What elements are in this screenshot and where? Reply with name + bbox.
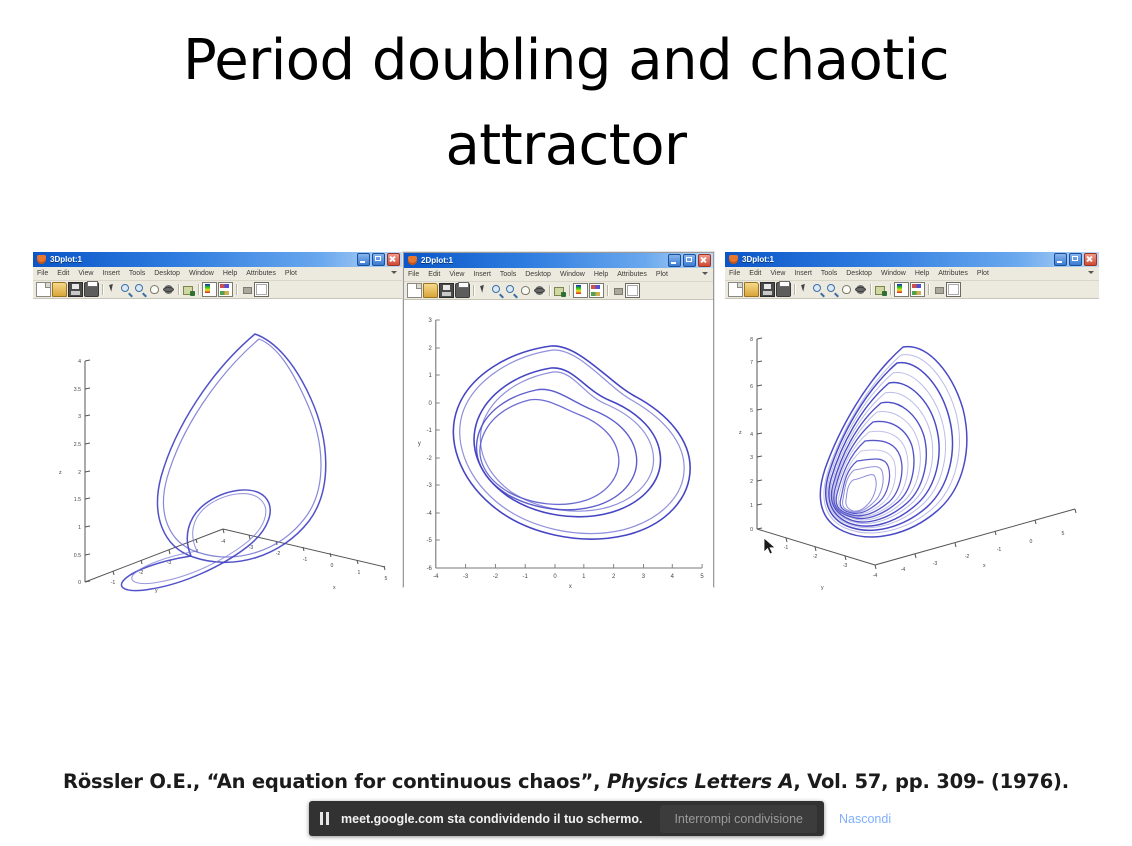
svg-text:-6: -6: [427, 566, 433, 572]
data-cursor-icon[interactable]: [874, 283, 887, 296]
zoom-out-icon[interactable]: [826, 283, 839, 296]
print-figure-icon[interactable]: [455, 283, 470, 298]
menubar-3[interactable]: File Edit View Insert Tools Desktop Wind…: [725, 267, 1099, 281]
svg-text:-4: -4: [873, 573, 878, 579]
toolbar-separator: [196, 283, 201, 296]
close-button-3[interactable]: [1084, 253, 1097, 266]
svg-text:-4: -4: [901, 567, 906, 573]
svg-text:4: 4: [750, 432, 753, 438]
menu-item-desktop[interactable]: Desktop: [846, 270, 872, 277]
svg-text:z: z: [59, 470, 62, 476]
svg-text:5: 5: [385, 576, 388, 582]
new-figure-icon[interactable]: [728, 282, 743, 297]
window-controls-3: [1054, 253, 1097, 266]
menu-item-file[interactable]: File: [37, 270, 48, 277]
open-file-icon[interactable]: [744, 282, 759, 297]
new-figure-window-icon[interactable]: [946, 282, 961, 297]
citation-part-1: Rössler O.E., “An equation for continuou…: [63, 770, 607, 793]
titlebar-2[interactable]: 2Dplot:1: [404, 253, 713, 268]
hide-plot-tools-icon[interactable]: [240, 283, 253, 296]
page-title-line-1: Period doubling and chaotic: [183, 28, 949, 93]
svg-text:3.5: 3.5: [74, 387, 81, 393]
open-file-icon[interactable]: [423, 283, 438, 298]
save-figure-icon[interactable]: [760, 282, 775, 297]
menu-item-help[interactable]: Help: [223, 270, 237, 277]
menu-item-file[interactable]: File: [408, 271, 419, 278]
menu-overflow-chevron-down-icon[interactable]: [702, 272, 708, 275]
svg-text:-2: -2: [965, 554, 970, 560]
menu-item-tools[interactable]: Tools: [129, 270, 145, 277]
menubar-1[interactable]: File Edit View Insert Tools Desktop Wind…: [33, 267, 402, 281]
svg-text:3: 3: [642, 574, 646, 580]
minimize-button-3[interactable]: [1054, 253, 1067, 266]
menu-overflow-chevron-down-icon[interactable]: [1088, 271, 1094, 274]
toolbar-separator: [567, 284, 572, 297]
edit-plot-arrow-icon[interactable]: [798, 283, 811, 296]
svg-text:3: 3: [750, 455, 753, 461]
pan-hand-icon[interactable]: [519, 284, 532, 297]
mouse-pointer-icon: [763, 537, 777, 555]
rotate-3d-icon[interactable]: [533, 284, 546, 297]
plot-canvas-3[interactable]: 876 543 210 -1-2-3 -4 -4-3-2 -105 zyx: [725, 299, 1099, 593]
toolbar-separator: [868, 283, 873, 296]
window-title-2: 2Dplot:1: [421, 256, 453, 265]
hide-plot-tools-icon[interactable]: [611, 284, 624, 297]
toolbar-separator: [926, 283, 931, 296]
titlebar-1[interactable]: 3Dplot:1: [33, 252, 402, 267]
svg-text:2.5: 2.5: [74, 442, 81, 448]
zoom-in-icon[interactable]: [120, 283, 133, 296]
svg-text:-2: -2: [427, 456, 433, 462]
svg-text:-3: -3: [463, 574, 469, 580]
citation-part-2: , Vol. 57, pp. 309- (1976).: [793, 770, 1069, 793]
svg-text:x: x: [333, 585, 336, 591]
stop-sharing-button[interactable]: Interrompi condivisione: [660, 805, 817, 833]
svg-text:0: 0: [331, 563, 334, 569]
rotate-3d-icon[interactable]: [162, 283, 175, 296]
zoom-in-icon[interactable]: [812, 283, 825, 296]
menu-item-insert[interactable]: Insert: [473, 271, 491, 278]
svg-text:-5: -5: [427, 538, 433, 544]
svg-text:-4: -4: [433, 574, 439, 580]
svg-text:0: 0: [429, 401, 433, 407]
print-figure-icon[interactable]: [84, 282, 99, 297]
figure-windows-row: 3Dplot:1 File Edit View Insert Tools Des…: [33, 252, 1099, 592]
insert-legend-icon[interactable]: [218, 282, 233, 297]
menu-item-window[interactable]: Window: [560, 271, 585, 278]
new-figure-icon[interactable]: [36, 282, 51, 297]
pause-icon: [319, 812, 331, 825]
toolbar-separator: [792, 283, 797, 296]
rotate-3d-icon[interactable]: [854, 283, 867, 296]
data-cursor-icon[interactable]: [182, 283, 195, 296]
maximize-button-3[interactable]: [1069, 253, 1082, 266]
zoom-in-icon[interactable]: [491, 284, 504, 297]
save-figure-icon[interactable]: [68, 282, 83, 297]
svg-text:2: 2: [750, 479, 753, 485]
pan-hand-icon[interactable]: [840, 283, 853, 296]
window-controls-2: [668, 254, 711, 267]
svg-text:-3: -3: [843, 563, 848, 569]
svg-text:-2: -2: [276, 551, 281, 557]
edit-plot-arrow-icon[interactable]: [106, 283, 119, 296]
svg-text:0: 0: [553, 574, 557, 580]
svg-text:0: 0: [1030, 539, 1033, 545]
matlab-membrane-icon: [728, 254, 739, 265]
toolbar-2[interactable]: [404, 282, 713, 300]
minimize-button-2[interactable]: [668, 254, 681, 267]
menu-overflow-chevron-down-icon[interactable]: [391, 271, 397, 274]
svg-text:5: 5: [700, 574, 704, 580]
svg-text:0: 0: [750, 527, 753, 533]
svg-text:-4: -4: [427, 511, 433, 517]
toolbar-separator: [100, 283, 105, 296]
share-message: meet.google.com sta condividendo il tuo …: [341, 812, 642, 826]
svg-text:4: 4: [78, 359, 81, 365]
svg-text:-1: -1: [997, 547, 1002, 553]
page-title-line-2: attractor: [0, 103, 1132, 188]
toolbar-separator: [888, 283, 893, 296]
svg-text:2: 2: [612, 574, 616, 580]
menu-item-window[interactable]: Window: [189, 270, 214, 277]
menu-item-attributes[interactable]: Attributes: [246, 270, 276, 277]
print-figure-icon[interactable]: [776, 282, 791, 297]
svg-text:1.5: 1.5: [74, 497, 81, 503]
menu-item-view[interactable]: View: [449, 271, 464, 278]
window-title-3: 3Dplot:1: [742, 255, 774, 264]
menu-item-help[interactable]: Help: [915, 270, 929, 277]
insert-legend-icon[interactable]: [910, 282, 925, 297]
close-button-1[interactable]: [387, 253, 400, 266]
toolbar-separator: [547, 284, 552, 297]
svg-text:5: 5: [1062, 531, 1065, 537]
svg-text:y: y: [821, 585, 824, 591]
svg-text:y: y: [418, 441, 421, 447]
page-title: Period doubling and chaotic attractor: [0, 18, 1132, 188]
window-title-1: 3Dplot:1: [50, 255, 82, 264]
maximize-button-1[interactable]: [372, 253, 385, 266]
svg-text:-1: -1: [427, 428, 433, 434]
svg-text:-3: -3: [427, 483, 433, 489]
svg-text:4: 4: [671, 574, 675, 580]
menu-item-edit[interactable]: Edit: [57, 270, 69, 277]
svg-text:x: x: [569, 584, 572, 589]
maximize-button-2[interactable]: [683, 254, 696, 267]
svg-text:8: 8: [750, 337, 753, 343]
svg-text:-1: -1: [523, 574, 529, 580]
toolbar-separator: [234, 283, 239, 296]
svg-text:1: 1: [78, 525, 81, 531]
menu-item-insert[interactable]: Insert: [794, 270, 812, 277]
menu-item-plot[interactable]: Plot: [977, 270, 989, 277]
svg-text:6: 6: [750, 384, 753, 390]
screen-share-notification-bar: meet.google.com sta condividendo il tuo …: [309, 801, 824, 836]
svg-text:-2: -2: [493, 574, 499, 580]
minimize-button-1[interactable]: [357, 253, 370, 266]
save-figure-icon[interactable]: [439, 283, 454, 298]
plot-canvas-2[interactable]: 321 0-1-2 -3-4-5 -6 -4-3-2 -101 234 5 yx: [404, 300, 713, 589]
toolbar-separator: [176, 283, 181, 296]
menu-item-help[interactable]: Help: [594, 271, 608, 278]
new-figure-window-icon[interactable]: [254, 282, 269, 297]
svg-text:-4: -4: [221, 539, 226, 545]
zoom-out-icon[interactable]: [134, 283, 147, 296]
data-cursor-icon[interactable]: [553, 284, 566, 297]
insert-colorbar-icon[interactable]: [202, 282, 217, 297]
menu-item-insert[interactable]: Insert: [102, 270, 120, 277]
svg-text:-1: -1: [111, 580, 116, 586]
menu-item-tools[interactable]: Tools: [500, 271, 516, 278]
new-figure-window-icon[interactable]: [625, 283, 640, 298]
toolbar-3[interactable]: [725, 281, 1099, 299]
plot-canvas-1[interactable]: 43.53 2.521.5 10.50 -1-2-3 -4-4 -3-2-1 0…: [33, 299, 402, 593]
citation-text: Rössler O.E., “An equation for continuou…: [0, 770, 1132, 793]
titlebar-3[interactable]: 3Dplot:1: [725, 252, 1099, 267]
hide-plot-tools-icon[interactable]: [932, 283, 945, 296]
pan-hand-icon[interactable]: [148, 283, 161, 296]
menu-item-view[interactable]: View: [770, 270, 785, 277]
menu-item-file[interactable]: File: [729, 270, 740, 277]
insert-colorbar-icon[interactable]: [573, 283, 588, 298]
svg-text:-1: -1: [303, 557, 308, 563]
svg-text:z: z: [739, 430, 742, 436]
matlab-figure-window-2[interactable]: 2Dplot:1 File Edit View Insert Tools Des…: [403, 252, 714, 587]
open-file-icon[interactable]: [52, 282, 67, 297]
svg-text:0.5: 0.5: [74, 553, 81, 559]
svg-text:-1: -1: [784, 545, 789, 551]
svg-text:3: 3: [429, 318, 433, 324]
toolbar-separator: [471, 284, 476, 297]
zoom-out-icon[interactable]: [505, 284, 518, 297]
svg-text:1: 1: [358, 570, 361, 576]
svg-text:0: 0: [78, 580, 81, 586]
menu-item-plot[interactable]: Plot: [285, 270, 297, 277]
menubar-2[interactable]: File Edit View Insert Tools Desktop Wind…: [404, 268, 713, 282]
toolbar-separator: [605, 284, 610, 297]
hide-button[interactable]: Nascondi: [833, 805, 897, 833]
citation-journal: Physics Letters A: [607, 770, 793, 793]
svg-text:-3: -3: [933, 561, 938, 567]
menu-item-plot[interactable]: Plot: [656, 271, 668, 278]
svg-text:7: 7: [750, 360, 753, 366]
svg-text:2: 2: [429, 346, 433, 352]
matlab-figure-window-3[interactable]: 3Dplot:1 File Edit View Insert Tools Des…: [725, 252, 1099, 592]
insert-legend-icon[interactable]: [589, 283, 604, 298]
svg-text:3: 3: [78, 414, 81, 420]
menu-item-attributes[interactable]: Attributes: [938, 270, 968, 277]
matlab-membrane-icon: [36, 254, 47, 265]
svg-text:-2: -2: [813, 554, 818, 560]
menu-item-attributes[interactable]: Attributes: [617, 271, 647, 278]
edit-plot-arrow-icon[interactable]: [477, 284, 490, 297]
menu-item-window[interactable]: Window: [881, 270, 906, 277]
menu-item-view[interactable]: View: [78, 270, 93, 277]
menu-item-edit[interactable]: Edit: [428, 271, 440, 278]
menu-item-desktop[interactable]: Desktop: [154, 270, 180, 277]
svg-text:1: 1: [750, 503, 753, 509]
svg-text:1: 1: [429, 373, 433, 379]
svg-text:1: 1: [582, 574, 586, 580]
svg-text:5: 5: [750, 408, 753, 414]
menu-item-edit[interactable]: Edit: [749, 270, 761, 277]
new-figure-icon[interactable]: [407, 283, 422, 298]
close-button-2[interactable]: [698, 254, 711, 267]
menu-item-desktop[interactable]: Desktop: [525, 271, 551, 278]
svg-text:x: x: [983, 563, 986, 569]
matlab-figure-window-1[interactable]: 3Dplot:1 File Edit View Insert Tools Des…: [33, 252, 402, 592]
menu-item-tools[interactable]: Tools: [821, 270, 837, 277]
insert-colorbar-icon[interactable]: [894, 282, 909, 297]
matlab-membrane-icon: [407, 255, 418, 266]
toolbar-1[interactable]: [33, 281, 402, 299]
svg-text:2: 2: [78, 470, 81, 476]
window-controls-1: [357, 253, 400, 266]
